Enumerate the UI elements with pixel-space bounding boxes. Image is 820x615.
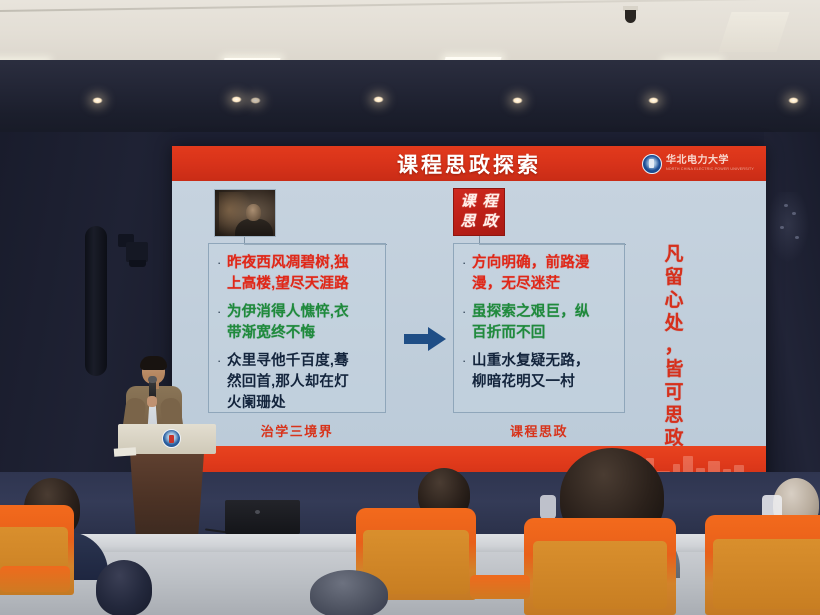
wall-fixture-cluster xyxy=(770,192,810,264)
slide-body: 课 程 思 政 · 昨夜西风凋碧树,独 上高楼,望尽天涯路 xyxy=(172,181,766,446)
bullet-dot: · xyxy=(462,302,472,321)
right-text-box: · 方向明确，前路漫 漫，无尽迷茫 · 虽探索之艰巨，纵 百折而不回 · xyxy=(453,243,625,413)
bullet-item: · 方向明确，前路漫 漫，无尽迷茫 xyxy=(462,253,616,295)
transition-arrow-icon xyxy=(404,327,446,351)
bullet-line: 漫，无尽迷茫 xyxy=(472,274,590,295)
bullet-dot: · xyxy=(217,302,227,321)
ceiling-dark-band xyxy=(0,60,820,138)
bullet-line: 然回首,那人却在灯 xyxy=(227,372,349,393)
seat-armrest[interactable] xyxy=(0,566,70,592)
bullet-item: · 众里寻他千百度,蓦 然回首,那人却在灯 火阑珊处 xyxy=(217,351,377,414)
camera-body xyxy=(126,242,148,262)
bullet-dot: · xyxy=(217,253,227,272)
downlight xyxy=(250,97,261,104)
left-text-box: · 昨夜西风凋碧树,独 上高楼,望尽天涯路 · 为伊消得人憔悴,衣 带渐宽终不悔… xyxy=(208,243,386,413)
wall-camera-icon xyxy=(118,230,148,266)
downlight xyxy=(648,97,659,104)
university-logo: 华北电力大学 NORTH CHINA ELECTRIC POWER UNIVER… xyxy=(642,151,754,176)
bullet-dot: · xyxy=(217,351,227,370)
paper-sheet xyxy=(114,447,137,457)
projection-screen: 课程思政探索 华北电力大学 NORTH CHINA ELECTRIC POWER… xyxy=(172,146,766,482)
bullet-line: 山重水复疑无路， xyxy=(472,351,590,372)
calligraphy-char: 皆 xyxy=(664,358,683,381)
bullet-dot: · xyxy=(462,351,472,370)
bullet-line: 虽探索之艰巨，纵 xyxy=(472,302,590,323)
bullet-line: 上高楼,望尽天涯路 xyxy=(227,274,349,295)
left-column-caption: 治学三境界 xyxy=(208,421,386,440)
lecture-hall-scene: 课程思政探索 华北电力大学 NORTH CHINA ELECTRIC POWER… xyxy=(0,0,820,615)
calligraphy-char: ， xyxy=(664,335,683,358)
seat-armrest[interactable] xyxy=(470,575,530,599)
bullet-dot: · xyxy=(462,253,472,272)
downlight xyxy=(512,97,523,104)
bullet-text: 为伊消得人憔悴,衣 带渐宽终不悔 xyxy=(227,302,349,344)
stage-monitor-speaker xyxy=(225,500,300,534)
seal-char: 思 xyxy=(460,215,475,230)
bullet-item: · 昨夜西风凋碧树,独 上高楼,望尽天涯路 xyxy=(217,253,377,295)
bullet-line: 百折而不回 xyxy=(472,323,590,344)
calligraphy-char: 思 xyxy=(664,404,683,427)
university-name-cn: 华北电力大学 xyxy=(666,156,754,166)
bullet-text: 虽探索之艰巨，纵 百折而不回 xyxy=(472,302,590,344)
ceiling-upper-panel xyxy=(0,0,820,62)
bullet-line: 带渐宽终不悔 xyxy=(227,323,349,344)
seal-char: 课 xyxy=(460,195,475,210)
bullet-item: · 为伊消得人憔悴,衣 带渐宽终不悔 xyxy=(217,302,377,344)
bullet-item: · 山重水复疑无路， 柳暗花明又一村 xyxy=(462,351,616,393)
bullet-text: 众里寻他千百度,蓦 然回首,那人却在灯 火阑珊处 xyxy=(227,351,349,414)
bullet-text: 昨夜西风凋碧树,独 上高楼,望尽天涯路 xyxy=(227,253,349,295)
calligraphy-char: 可 xyxy=(664,381,683,404)
ceiling-access-tile xyxy=(719,12,790,52)
bullet-line: 众里寻他千百度,蓦 xyxy=(227,351,349,372)
scholar-portrait-image xyxy=(214,189,276,237)
camera-bracket xyxy=(129,260,146,267)
dome-camera-icon xyxy=(623,6,638,24)
bullet-line: 柳暗花明又一村 xyxy=(472,372,590,393)
bullet-text: 方向明确，前路漫 漫，无尽迷茫 xyxy=(472,253,590,295)
university-name-en: NORTH CHINA ELECTRIC POWER UNIVERSITY xyxy=(666,168,754,172)
bullet-line: 火阑珊处 xyxy=(227,393,349,414)
bullet-line: 昨夜西风凋碧树,独 xyxy=(227,253,349,274)
seal-char: 程 xyxy=(482,195,497,210)
bullet-line: 方向明确，前路漫 xyxy=(472,253,590,274)
bullet-item: · 虽探索之艰巨，纵 百折而不回 xyxy=(462,302,616,344)
camera-dome xyxy=(625,10,636,23)
downlight xyxy=(231,96,242,103)
calligraphy-char: 处 xyxy=(664,312,683,335)
calligraphy-char: 心 xyxy=(664,289,683,312)
downlight xyxy=(373,96,384,103)
column-speaker xyxy=(85,226,107,376)
vertical-calligraphy-text: 凡 留 心 处 ， 皆 可 思 政 xyxy=(650,243,698,453)
calligraphy-char: 留 xyxy=(664,266,683,289)
right-column-caption: 课程思政 xyxy=(453,421,625,440)
lectern xyxy=(118,424,216,544)
seal-char: 政 xyxy=(482,215,497,230)
face-mask xyxy=(540,495,556,519)
course-ideology-seal: 课 程 思 政 xyxy=(453,188,505,236)
auditorium-seat[interactable] xyxy=(705,515,820,615)
bullet-text: 山重水复疑无路， 柳暗花明又一村 xyxy=(472,351,590,393)
university-logo-text: 华北电力大学 NORTH CHINA ELECTRIC POWER UNIVER… xyxy=(666,156,754,172)
calligraphy-char: 凡 xyxy=(664,243,683,266)
audience-head xyxy=(310,570,388,615)
downlight xyxy=(92,97,103,104)
lectern-crest-icon xyxy=(162,429,181,448)
wall-right-panel xyxy=(764,132,820,482)
audience-head xyxy=(96,560,152,615)
auditorium-seat[interactable] xyxy=(524,518,676,615)
slide-title-bar: 课程思政探索 华北电力大学 NORTH CHINA ELECTRIC POWER… xyxy=(172,146,766,181)
slide-title: 课程思政探索 xyxy=(397,149,541,179)
ceiling-seam-line xyxy=(0,0,820,12)
bullet-line: 为伊消得人憔悴,衣 xyxy=(227,302,349,323)
university-emblem-icon xyxy=(642,154,662,174)
downlight xyxy=(788,97,799,104)
